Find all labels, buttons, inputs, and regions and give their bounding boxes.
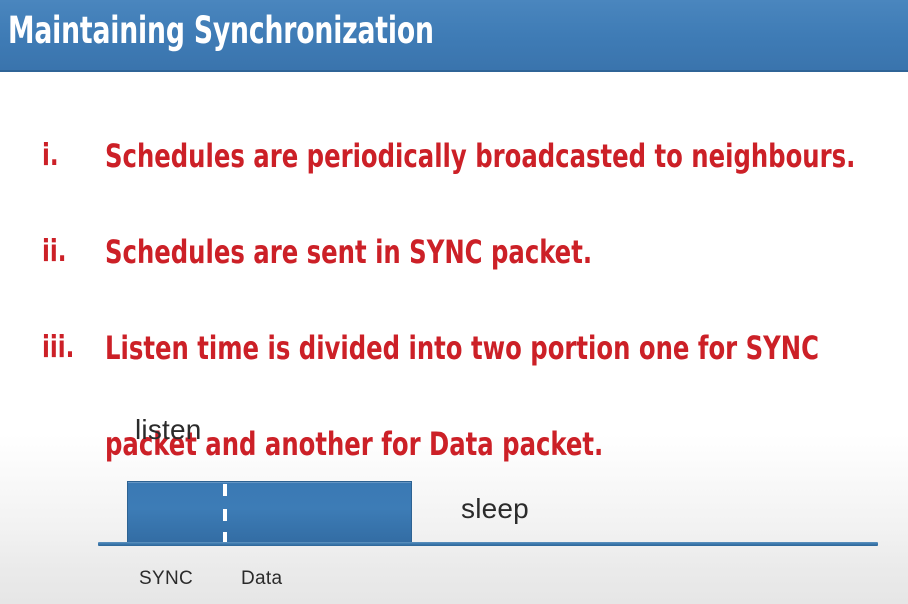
sleep-label: sleep xyxy=(461,493,529,525)
timeline-axis xyxy=(98,542,878,546)
sync-data-divider-icon xyxy=(223,484,227,542)
data-label: Data xyxy=(241,568,282,590)
duty-cycle-diagram: listen sleep SYNC Data xyxy=(0,0,908,604)
slide-canvas: Maintaining Synchronization i. Schedules… xyxy=(0,0,908,604)
listen-period-block xyxy=(127,481,412,543)
sync-label: SYNC xyxy=(139,568,193,590)
listen-label: listen xyxy=(135,414,202,446)
